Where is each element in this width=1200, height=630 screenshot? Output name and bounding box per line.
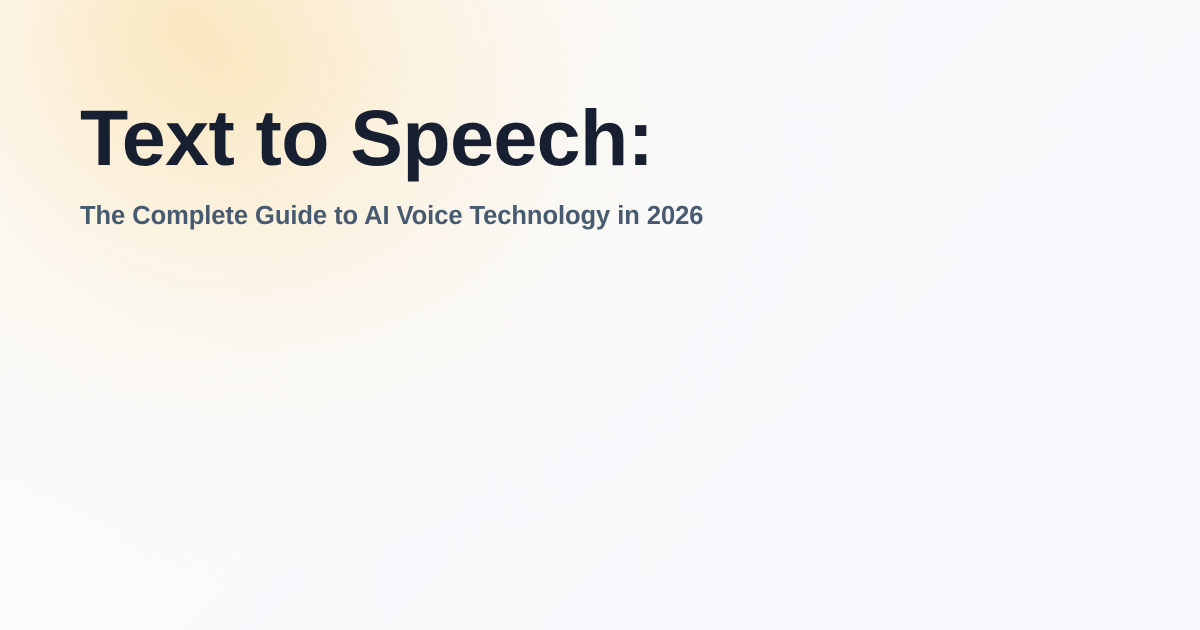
hero-text-block: Text to Speech: The Complete Guide to AI…	[80, 98, 1120, 233]
page-subtitle: The Complete Guide to AI Voice Technolog…	[80, 201, 1120, 233]
open-graph-card: Text to Speech: The Complete Guide to AI…	[0, 0, 1200, 630]
page-title: Text to Speech:	[80, 98, 1120, 177]
